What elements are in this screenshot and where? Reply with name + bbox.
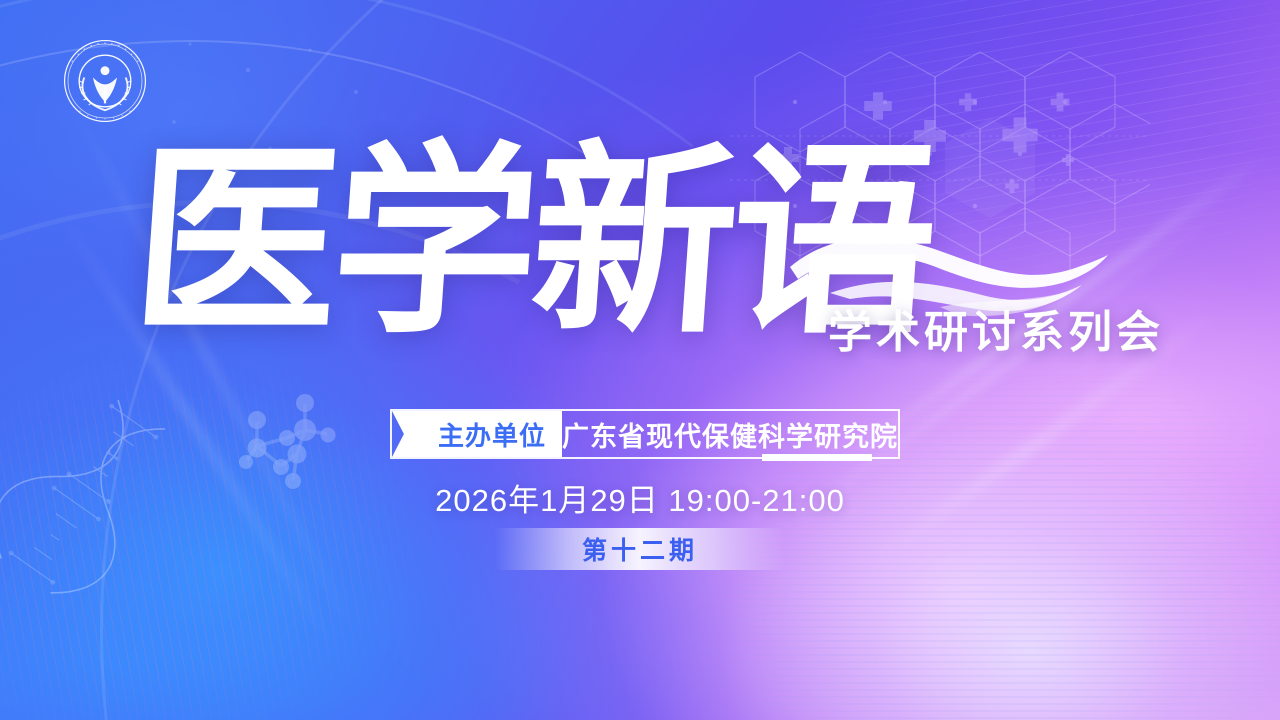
background-wash-lavender	[720, 420, 1280, 720]
organizer-tag-label: 主办单位	[438, 416, 546, 453]
page-subtitle: 学术研讨系列会	[828, 296, 1164, 360]
organizer-underline	[762, 454, 872, 461]
page-title: 医学新语	[125, 140, 862, 380]
organizer-name: 广东省现代保健科学研究院	[562, 411, 898, 457]
schedule-line: 2026年1月29日 19:00-21:00	[0, 475, 1280, 520]
institute-seal-icon	[62, 38, 148, 124]
chevron-right-icon: ›	[406, 422, 414, 446]
organizer-bar: › 主办单位 广东省现代保健科学研究院	[390, 409, 900, 459]
poster-canvas: 医学新语 学术研讨系列会 › 主办单位 广东省现代保健科学研究院 2026年1月…	[0, 0, 1280, 720]
episode-badge: 第十二期	[495, 528, 785, 570]
episode-badge-label: 第十二期	[582, 531, 698, 567]
organizer-tag: › 主办单位	[392, 411, 562, 457]
